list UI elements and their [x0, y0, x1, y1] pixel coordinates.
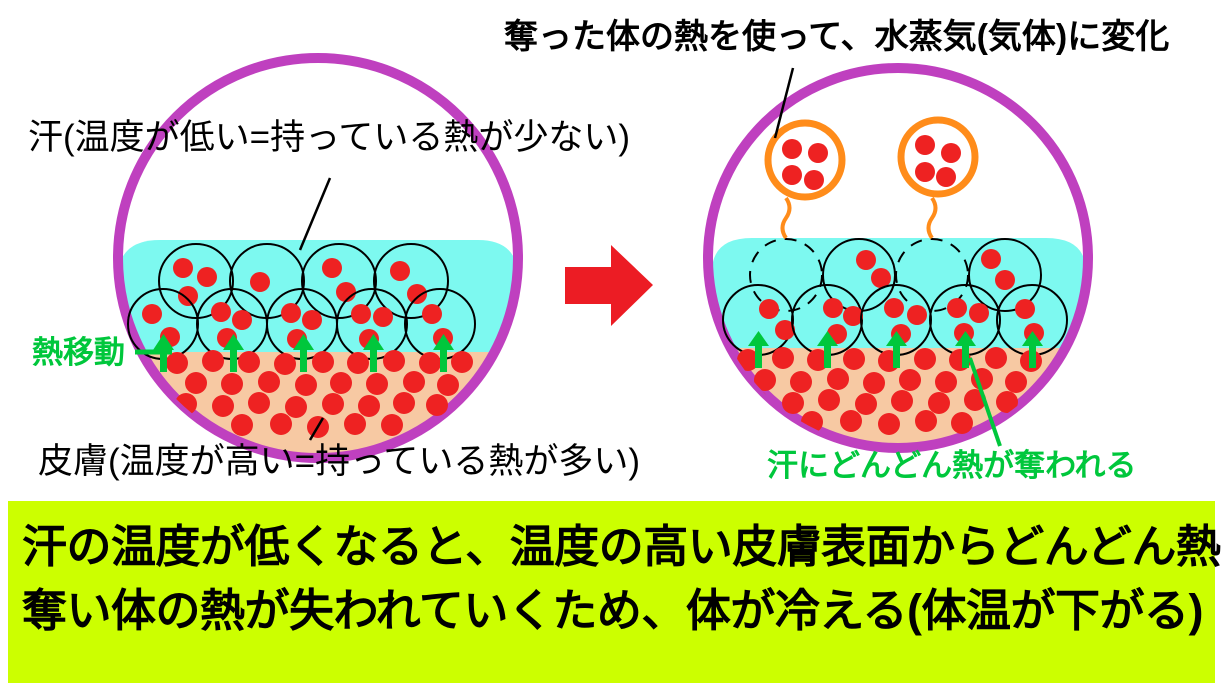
orange-vapor-bubble-icon: [901, 120, 975, 194]
orange-squiggle-icon: [783, 198, 790, 238]
diagram-canvas: 奪った体の熱を使って、水蒸気(気体)に変化 汗(温度が低い=持っている熱が少ない…: [0, 0, 1223, 691]
heat-stolen-label: 汗にどんどん熱が奪われる: [767, 450, 1137, 481]
caption-line-2: 奪い体の熱が失われていくため、体が冷える(体温が下がる): [22, 579, 1203, 643]
panel-right-body: [700, 68, 1100, 488]
skin-label: 皮膚(温度が高い=持っている熱が多い): [38, 444, 640, 479]
leader-line-sweat: [300, 178, 330, 250]
heat-transfer-label: 熱移動: [32, 337, 125, 368]
summary-caption-banner: 汗の温度が低くなると、温度の高い皮膚表面からどんどん熱を 奪い体の熱が失われてい…: [8, 501, 1215, 683]
red-right-arrow-icon: [565, 245, 653, 326]
vapor-change-label: 奪った体の熱を使って、水蒸気(気体)に変化: [504, 20, 1169, 54]
caption-line-1: 汗の温度が低くなると、温度の高い皮膚表面からどんどん熱を: [22, 515, 1203, 579]
sweat-label: 汗(温度が低い=持っている熱が少ない): [28, 120, 630, 155]
orange-vapor-bubble-icon: [768, 123, 842, 197]
orange-squiggle-icon: [929, 198, 936, 238]
